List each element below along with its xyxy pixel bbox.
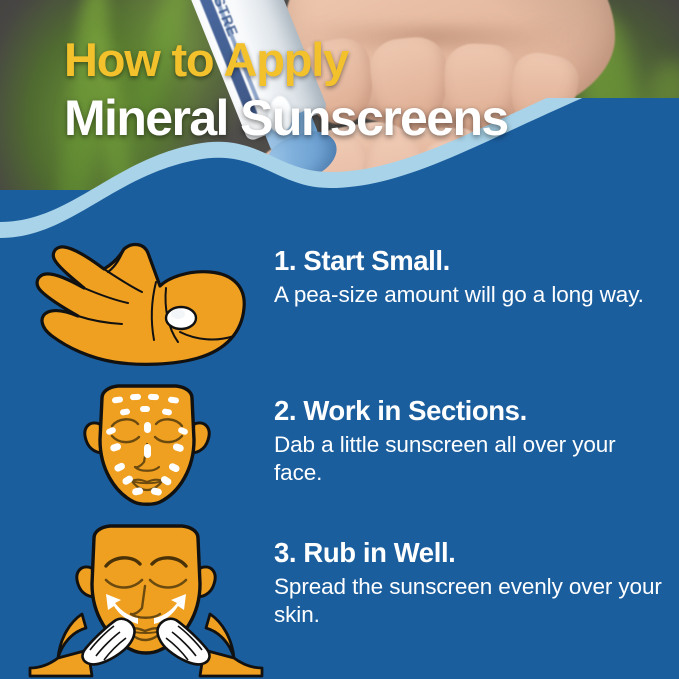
page-title: How to Apply Mineral Sunscreens xyxy=(64,36,508,143)
step-1-text-col: 1. Start Small. A pea-size amount will g… xyxy=(266,236,668,309)
step-item: 3. Rub in Well. Spread the sunscreen eve… xyxy=(28,518,668,678)
step-3-text-col: 3. Rub in Well. Spread the sunscreen eve… xyxy=(266,518,668,629)
step-title: 1. Start Small. xyxy=(274,246,668,277)
face-with-hands-rubbing-icon xyxy=(28,518,266,678)
step-description: Spread the sunscreen evenly over your sk… xyxy=(274,573,666,630)
title-line-1: How to Apply xyxy=(64,36,508,83)
rubbing-hand-left xyxy=(83,619,135,665)
step-title: 3. Rub in Well. xyxy=(274,538,668,569)
step-1-icon-col xyxy=(28,236,266,379)
step-item: 2. Work in Sections. Dab a little sunscr… xyxy=(28,382,668,516)
step-3-icon-col xyxy=(28,518,266,679)
face-with-sunscreen-dots-icon xyxy=(28,382,266,516)
open-palm-with-dollop-icon xyxy=(28,236,266,374)
rubbing-hand-right xyxy=(157,619,209,665)
title-line-2: Mineral Sunscreens xyxy=(64,93,508,143)
step-description: A pea-size amount will go a long way. xyxy=(274,281,666,309)
steps-list: 1. Start Small. A pea-size amount will g… xyxy=(0,236,679,679)
step-description: Dab a little sunscreen all over your fac… xyxy=(274,431,666,488)
infographic-root: STRE How to Apply Mineral Sunscreens xyxy=(0,0,679,679)
step-2-icon-col xyxy=(28,382,266,521)
step-title: 2. Work in Sections. xyxy=(274,396,668,427)
step-2-text-col: 2. Work in Sections. Dab a little sunscr… xyxy=(266,382,668,487)
step-item: 1. Start Small. A pea-size amount will g… xyxy=(28,236,668,374)
